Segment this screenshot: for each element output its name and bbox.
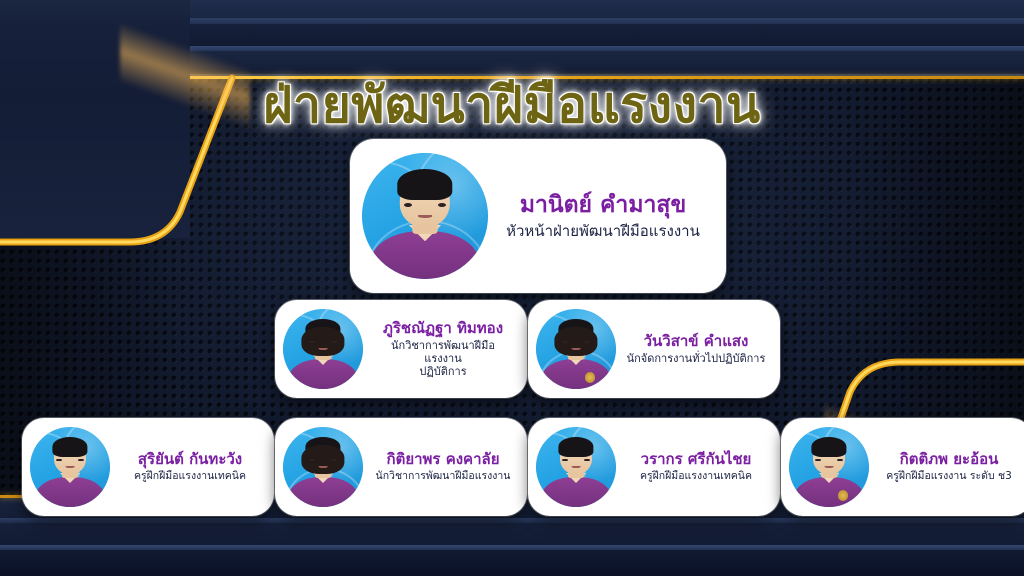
org-card-text: วรากร ศรีกันไชย ครูฝึกฝีมือแรงงานเทคนิค [620, 451, 772, 483]
person-name: ภูริชณัฏฐา ทิมทอง [373, 320, 513, 337]
person-role: นักจัดการงานทั่วไปปฏิบัติการ [626, 352, 766, 365]
org-card-text: กิตติภพ ยะอ้อน ครูฝึกฝีมือแรงงาน ระดับ ช… [873, 451, 1024, 483]
person-name: สุริยันต์ กันทะวัง [120, 451, 260, 468]
org-card-row2-1[interactable]: ภูริชณัฏฐา ทิมทอง นักวิชาการพัฒนาฝีมือแร… [275, 300, 527, 398]
portrait-figure [30, 427, 110, 507]
portrait-figure [362, 153, 488, 279]
bottom-band-1 [0, 550, 1024, 576]
org-card-row3-2[interactable]: กิติยาพร คงคาลัย นักวิชาการพัฒนาฝีมือแรง… [275, 418, 527, 516]
org-card-row3-3[interactable]: วรากร ศรีกันไชย ครูฝึกฝีมือแรงงานเทคนิค [528, 418, 780, 516]
person-role: หัวหน้าฝ่ายพัฒนาฝีมือแรงงาน [500, 222, 706, 240]
uniform-emblem-icon [585, 372, 595, 382]
org-card-text: กิติยาพร คงคาลัย นักวิชาการพัฒนาฝีมือแรง… [367, 451, 519, 483]
person-role: นักวิชาการพัฒนาฝีมือแรงงาน [373, 339, 513, 365]
org-card-head[interactable]: มานิตย์ คำมาสุข หัวหน้าฝ่ายพัฒนาฝีมือแรง… [350, 139, 726, 293]
portrait-figure [789, 427, 869, 507]
org-card-row3-1[interactable]: สุริยันต์ กันทะวัง ครูฝึกฝีมือแรงงานเทคน… [22, 418, 274, 516]
org-card-row2-2[interactable]: วันวิสาข์ คำแสง นักจัดการงานทั่วไปปฏิบัต… [528, 300, 780, 398]
portrait-figure [536, 309, 616, 389]
avatar [536, 427, 616, 507]
org-card-text: ภูริชณัฏฐา ทิมทอง นักวิชาการพัฒนาฝีมือแร… [367, 320, 519, 379]
person-role: ครูฝึกฝีมือแรงงานเทคนิค [120, 470, 260, 483]
org-card-text: วันวิสาข์ คำแสง นักจัดการงานทั่วไปปฏิบัต… [620, 333, 772, 365]
person-role: ครูฝึกฝีมือแรงงานเทคนิค [626, 470, 766, 483]
avatar [30, 427, 110, 507]
person-role: ครูฝึกฝีมือแรงงาน ระดับ ช3 [879, 470, 1019, 483]
portrait-figure [536, 427, 616, 507]
org-card-text: มานิตย์ คำมาสุข หัวหน้าฝ่ายพัฒนาฝีมือแรง… [494, 192, 712, 240]
person-role: นักวิชาการพัฒนาฝีมือแรงงาน [373, 470, 513, 483]
avatar [536, 309, 616, 389]
person-name: มานิตย์ คำมาสุข [500, 192, 706, 218]
portrait-figure [283, 427, 363, 507]
org-card-text: สุริยันต์ กันทะวัง ครูฝึกฝีมือแรงงานเทคน… [114, 451, 266, 483]
person-name: วรากร ศรีกันไชย [626, 451, 766, 468]
org-card-row3-4[interactable]: กิตติภพ ยะอ้อน ครูฝึกฝีมือแรงงาน ระดับ ช… [781, 418, 1024, 516]
page-title: ฝ่ายพัฒนาฝีมือแรงงาน [0, 66, 1024, 145]
uniform-emblem-icon [838, 490, 848, 500]
avatar [789, 427, 869, 507]
portrait-figure [283, 309, 363, 389]
person-name: วันวิสาข์ คำแสง [626, 333, 766, 350]
avatar [283, 309, 363, 389]
person-role-line2: ปฏิบัติการ [373, 365, 513, 378]
person-name: กิติยาพร คงคาลัย [373, 451, 513, 468]
avatar [362, 153, 488, 279]
org-chart-slide: ฝ่ายพัฒนาฝีมือแรงงาน มานิตย์ คำมาสุข หัว… [0, 0, 1024, 576]
person-name: กิตติภพ ยะอ้อน [879, 451, 1019, 468]
avatar [283, 427, 363, 507]
bottom-band-3 [0, 523, 1024, 545]
